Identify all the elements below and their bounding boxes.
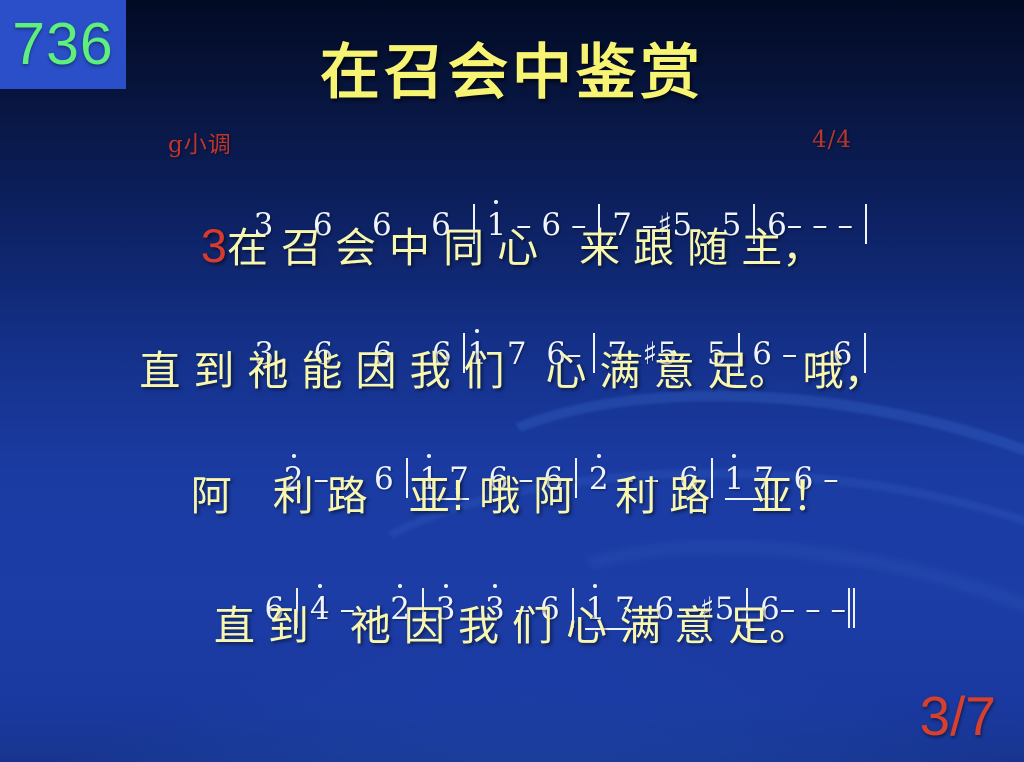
- lyrics-line-2: 直 到 祂 能 因 我 们 心 满 意 足。 哦，: [0, 349, 1024, 395]
- page-title: 在召会中鉴赏: [0, 43, 1024, 103]
- time-signature-label: 4/4: [812, 127, 852, 153]
- music-system-3: 2 – – 6 1 7 6 – 6 2 – – 6 1 7 6 – 阿 利 路 …: [0, 422, 1024, 552]
- lyrics-line-1: 3在 召 会 中 同 心 来 跟 随 主，: [0, 220, 1024, 273]
- page-indicator: 3/7: [920, 689, 996, 744]
- music-system-1: 3 6 6 6 1 – 6 – 7 –♯5 5 6– – – 3在 召 会 中 …: [0, 168, 1024, 297]
- lyrics-text: 在 召 会 中 同 心 来 跟 随 主，: [227, 224, 823, 272]
- verse-number: 3: [201, 219, 227, 272]
- notation-line-3: 2 – – 6 1 7 6 – 6 2 – – 6 1 7 6 –: [0, 422, 1024, 474]
- notation-line-1: 3 6 6 6 1 – 6 – 7 –♯5 5 6– – –: [0, 168, 1024, 220]
- notation-line-4: 6 4 – – 2 3 3 – 6 1 7 6 –♯5 6– – –: [0, 552, 1024, 604]
- lyrics-line-4: 直 到 祂 因 我 们 心 满 意 足。: [0, 604, 1024, 650]
- notation-line-2: 3 6 6 6 1 7 6– 7–♯5 5 6 – – 6: [0, 297, 1024, 349]
- key-signature-label: g小调: [168, 125, 232, 159]
- lyrics-line-3: 阿 利 路 亚! 哦 阿 利 路 亚！: [0, 474, 1024, 520]
- hymn-slide: 736 在召会中鉴赏 g小调 4/4 3 6 6 6 1 – 6 – 7 –♯5…: [0, 0, 1024, 762]
- music-systems: 3 6 6 6 1 – 6 – 7 –♯5 5 6– – – 3在 召 会 中 …: [0, 168, 1024, 680]
- music-system-2: 3 6 6 6 1 7 6– 7–♯5 5 6 – – 6 直 到 祂 能 因 …: [0, 297, 1024, 422]
- music-system-4: 6 4 – – 2 3 3 – 6 1 7 6 –♯5 6– – – 直 到 祂…: [0, 552, 1024, 680]
